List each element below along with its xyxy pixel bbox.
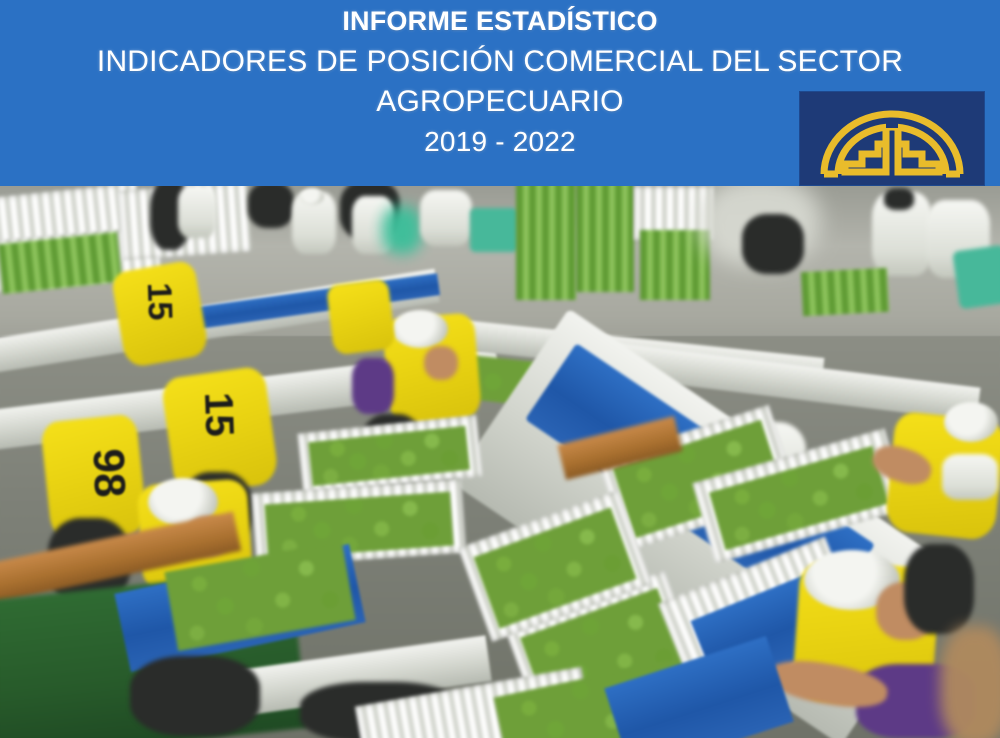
photo-teal-bin [470, 208, 518, 252]
photo-vest-number: 98 [83, 448, 135, 499]
photo-teal-bin [952, 245, 1000, 310]
photo-worker-face [424, 346, 458, 380]
photo-worker-hairnet [944, 402, 998, 442]
header-banner: INFORME ESTADÍSTICO INDICADORES DE POSIC… [0, 0, 1000, 186]
photo-dark-gap [248, 186, 294, 228]
photo-green-crate-stack [640, 230, 710, 300]
photo-vest-number: 15 [139, 282, 179, 321]
report-title-line-2: INDICADORES DE POSICIÓN COMERCIAL DEL SE… [0, 47, 1000, 78]
photo-green-apron [382, 206, 422, 254]
photo-machine-base [130, 656, 260, 736]
photo-worker-hairnet [300, 188, 324, 205]
photo-green-crate-stack [801, 268, 889, 316]
report-cover-page: INFORME ESTADÍSTICO INDICADORES DE POSIC… [0, 0, 1000, 738]
cover-photo: 15 15 98 [0, 186, 1000, 738]
report-title-line-1: INFORME ESTADÍSTICO [0, 8, 1000, 36]
photo-green-crate-stack [516, 186, 576, 300]
photo-worker-hair [884, 188, 914, 210]
photo-worker-body [178, 186, 216, 238]
photo-worker-vest [326, 278, 396, 355]
stepped-arch-emblem-icon [800, 92, 984, 185]
photo-dark-bin [742, 214, 804, 274]
photo-worker-hairnet [392, 310, 448, 348]
photo-worker-sleeve [352, 358, 394, 414]
photo-background-blur [940, 626, 1000, 738]
photo-worker-glove [942, 454, 998, 500]
inei-logo [800, 92, 984, 185]
photo-worker-hair [904, 544, 974, 634]
photo-vest-number: 15 [195, 391, 242, 437]
photo-green-crate-stack [576, 186, 634, 292]
photo-worker-body [420, 190, 472, 246]
